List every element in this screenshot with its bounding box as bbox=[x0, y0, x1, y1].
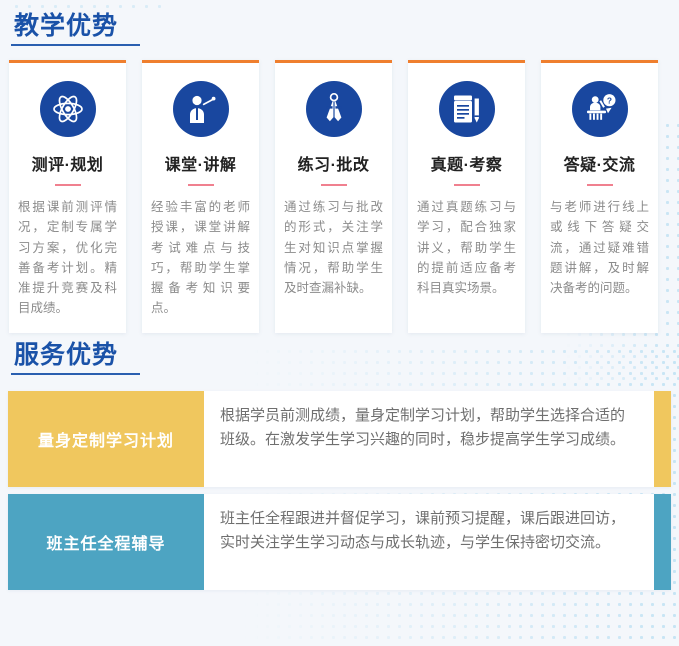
feature-card-exam[interactable]: 真题·考察 通过真题练习与学习，配合独家讲义，帮助学生的提前适应备考科目真实场景… bbox=[408, 60, 525, 333]
feature-card-title: 课堂·讲解 bbox=[151, 151, 250, 175]
feature-card-title: 真题·考察 bbox=[417, 151, 516, 175]
card-divider-rule bbox=[188, 184, 214, 186]
feature-card-text: 根据课前测评情况，定制专属学习方案，优化完善备考计划。精准提升竞赛及科目成绩。 bbox=[18, 197, 117, 319]
service-row-label: 量身定制学习计划 bbox=[8, 391, 204, 487]
teaching-cards: 测评·规划 根据课前测评情况，定制专属学习方案，优化完善备考计划。精准提升竞赛及… bbox=[8, 60, 671, 333]
service-row-text: 班主任全程跟进并督促学习，课前预习提醒，课后跟进回访，实时关注学生学习动态与成长… bbox=[204, 494, 654, 590]
compass-divider-icon bbox=[306, 81, 362, 137]
svg-text:?: ? bbox=[606, 96, 611, 106]
service-row-accent-bar bbox=[654, 391, 671, 487]
service-row-label: 班主任全程辅导 bbox=[8, 494, 204, 590]
teacher-pointer-icon bbox=[173, 81, 229, 137]
feature-card-assessment[interactable]: 测评·规划 根据课前测评情况，定制专属学习方案，优化完善备考计划。精准提升竞赛及… bbox=[9, 60, 126, 333]
service-row-head-teacher[interactable]: 班主任全程辅导 班主任全程跟进并督促学习，课前预习提醒，课后跟进回访，实时关注学… bbox=[8, 494, 671, 590]
atom-icon bbox=[40, 81, 96, 137]
teaching-section-title: 教学优势 bbox=[14, 14, 118, 46]
feature-card-qa[interactable]: ? 答疑·交流 与老师进行线上或线下答疑交流，通过疑难错题讲解，及时解决备考的问… bbox=[541, 60, 658, 333]
feature-card-text: 通过练习与批改的形式，关注学生对知识点掌握情况，帮助学生及时查漏补缺。 bbox=[284, 197, 383, 298]
feature-card-classroom[interactable]: 课堂·讲解 经验丰富的老师授课，课堂讲解考试难点与技巧，帮助学生掌握备考知识要点… bbox=[142, 60, 259, 333]
feature-card-text: 通过真题练习与学习，配合独家讲义，帮助学生的提前适应备考科目真实场景。 bbox=[417, 197, 516, 298]
feature-card-practice[interactable]: 练习·批改 通过练习与批改的形式，关注学生对知识点掌握情况，帮助学生及时查漏补缺… bbox=[275, 60, 392, 333]
service-row-accent-bar bbox=[654, 494, 671, 590]
service-row-custom-plan[interactable]: 量身定制学习计划 根据学员前测成绩，量身定制学习计划，帮助学生选择合适的班级。在… bbox=[8, 391, 671, 487]
service-heading-row: 服务优势 bbox=[8, 333, 671, 375]
feature-card-text: 经验丰富的老师授课，课堂讲解考试难点与技巧，帮助学生掌握备考知识要点。 bbox=[151, 197, 250, 319]
card-divider-rule bbox=[587, 184, 613, 186]
paper-pencil-icon bbox=[439, 81, 495, 137]
feature-card-title: 答疑·交流 bbox=[550, 151, 649, 175]
feature-card-title: 练习·批改 bbox=[284, 151, 383, 175]
service-section-title: 服务优势 bbox=[14, 343, 118, 375]
card-divider-rule bbox=[55, 184, 81, 186]
card-divider-rule bbox=[321, 184, 347, 186]
service-row-text: 根据学员前测成绩，量身定制学习计划，帮助学生选择合适的班级。在激发学生学习兴趣的… bbox=[204, 391, 654, 487]
card-divider-rule bbox=[454, 184, 480, 186]
qa-desk-icon: ? bbox=[572, 81, 628, 137]
teaching-heading-row: 教学优势 bbox=[8, 0, 671, 46]
service-rows: 量身定制学习计划 根据学员前测成绩，量身定制学习计划，帮助学生选择合适的班级。在… bbox=[8, 391, 671, 590]
page-content: 教学优势 测评·规划 根据课前测评情况，定制专属学习方案，优化完善备考计划。精准… bbox=[0, 0, 679, 590]
feature-card-title: 测评·规划 bbox=[18, 151, 117, 175]
feature-card-text: 与老师进行线上或线下答疑交流，通过疑难错题讲解，及时解决备考的问题。 bbox=[550, 197, 649, 298]
